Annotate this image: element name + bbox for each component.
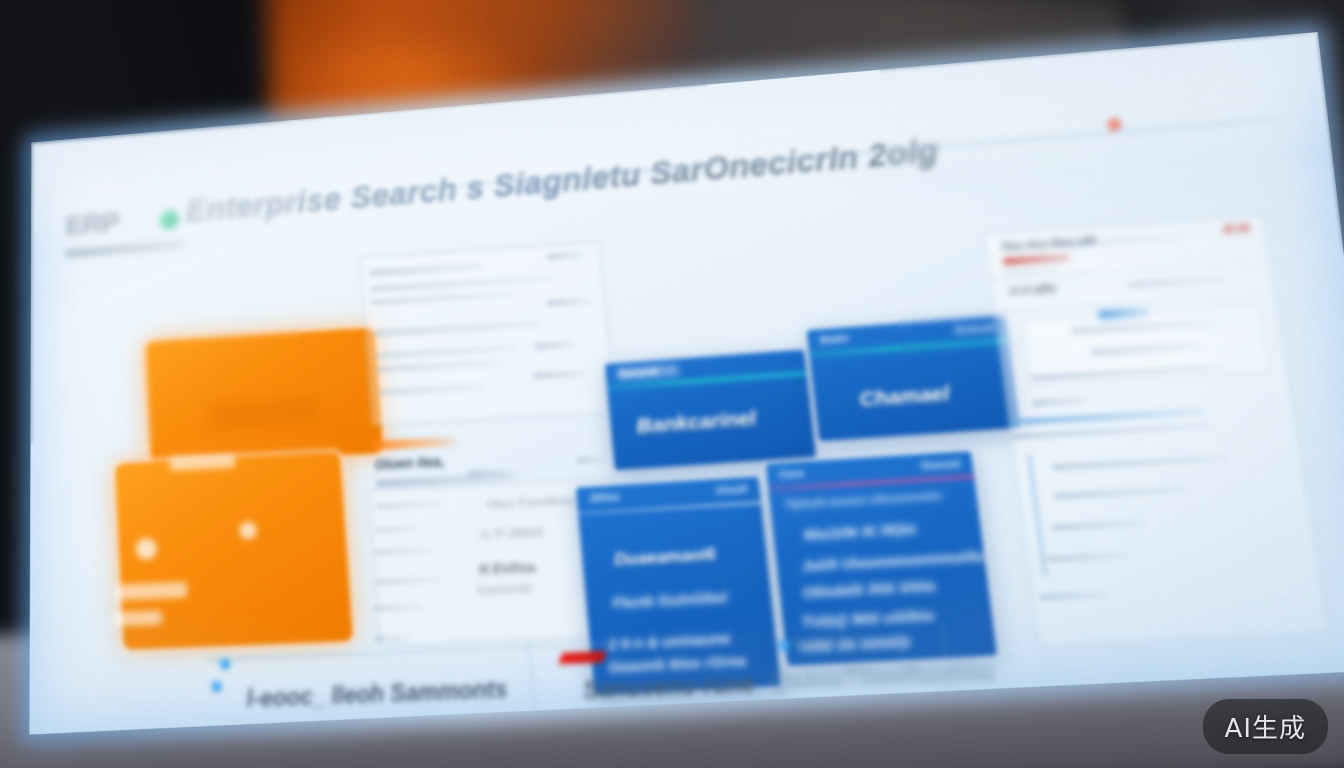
footer-right-label: Sanuseno-rune: [582, 670, 756, 705]
card-header-label: Cava: [779, 469, 805, 482]
card-header-label: Bebhr: [819, 334, 850, 347]
detail-row-line: [1010, 409, 1207, 425]
metric-card-bankcarinel[interactable]: Ooconiit Bankcarinel: [605, 349, 817, 470]
footer-tag-line: [794, 636, 864, 647]
detail-row-line: [1012, 423, 1214, 439]
card-body-line: Oliiobilii ilitii iiitiio: [801, 577, 936, 602]
status-dot-green: [160, 209, 178, 229]
monitor-screen: ERP Enterprise Search s Siagnletu SarOne…: [29, 32, 1344, 734]
footer-separator: [529, 642, 536, 714]
tile-bullet-icon: [136, 538, 158, 560]
detail-row-line: [1047, 553, 1129, 562]
card-body-line: Flunb GuinGboi: [612, 589, 729, 613]
brand-logo[interactable]: ERP: [66, 204, 150, 248]
card-header-value: Ifreloui4: [954, 323, 995, 337]
card-subtitle: Tiphutti anooto nllooooontoo: [784, 490, 943, 512]
footer-left-label: l-eooc_ lleoh Sammonts: [246, 676, 508, 713]
section-heading: Oiuen itea,: [374, 453, 445, 472]
detail-panel: Ouu Auu Buu uNl ol ol ol ol ajlllu: [984, 215, 1330, 646]
metric-card-chamael[interactable]: Bebhr Ifreloui4 Chamael: [806, 315, 1020, 441]
orange-tag-chip: [373, 437, 457, 450]
form-value-line: [576, 457, 602, 463]
detail-panel-red-mark: ol ol: [1222, 221, 1250, 237]
detail-panel-underline: [1004, 267, 1062, 274]
tile-label-bar: [115, 582, 188, 601]
card-header-value: Ouuusd: [920, 459, 961, 473]
card-title: Duaeamaoi6: [614, 544, 717, 570]
footer-right-label-faint: QaauuTtiooRuutiou: [768, 659, 997, 696]
card-body-line: 6lui1t9i iti i9i)io: [803, 520, 917, 544]
orange-tile-upper[interactable]: [145, 328, 383, 466]
detail-row-line: [1052, 455, 1230, 470]
tile-shadow: [208, 396, 320, 430]
card-header: Bebhr Ifreloui4: [806, 315, 1008, 355]
detail-row-line: [1128, 276, 1228, 286]
tile-bullet-icon: [239, 521, 257, 539]
detail-row-line: [1053, 487, 1190, 499]
ai-generated-watermark: AI生成: [1203, 699, 1328, 754]
page-title: Enterprise Search s Siagnletu SarOnecicr…: [185, 132, 939, 229]
tile-label-bar: [169, 454, 236, 471]
card-title: Bankcarinel: [635, 407, 757, 439]
footer-bullet-icon: [211, 681, 222, 693]
detail-sidebar-rail: [1027, 454, 1048, 578]
tile-label-bar: [113, 610, 163, 626]
card-header-value: Irtuuiil: [716, 484, 748, 497]
orange-tile-lower[interactable]: [115, 453, 353, 650]
screenshot-root: ERP Enterprise Search s Siagnletu SarOne…: [0, 0, 1344, 768]
footer-red-marker: [559, 651, 607, 664]
screen-content: ERP Enterprise Search s Siagnletu SarOne…: [29, 32, 1344, 734]
footer-bullet-icon: [777, 639, 790, 651]
card-body-line: Juii9 Uiuuooouonnnuiilu: [801, 548, 986, 576]
card-title: Chamael: [858, 382, 951, 412]
detail-row-line: [1051, 520, 1145, 530]
detail-panel-underline: [1003, 255, 1072, 264]
detail-row-line: [1032, 397, 1087, 406]
card-header-label: Jttttuu: [588, 492, 620, 505]
footer-bullet-icon: [219, 658, 230, 669]
form-group-box: [360, 242, 616, 426]
detail-row-line: [1039, 592, 1110, 600]
detail-subtitle: ol ol ajlllu: [1009, 284, 1058, 298]
